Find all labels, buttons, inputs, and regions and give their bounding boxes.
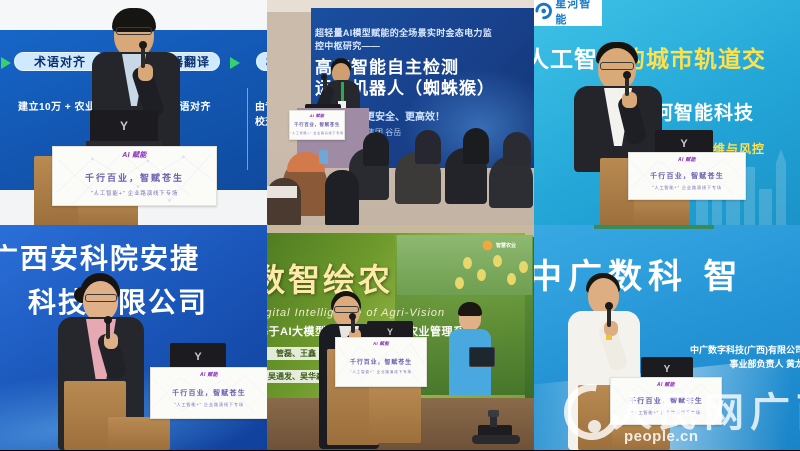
event-logo: AI 赋能 — [678, 156, 696, 163]
slide-brand-logo-text: 智慧农业 — [496, 242, 516, 249]
speaker-glasses — [600, 62, 634, 70]
green-arrow-icon — [1, 57, 11, 69]
speaker-glasses — [334, 306, 359, 313]
panel3-podium: AI 赋能 千行百业，智赋苍生 "人工智能+" 企业路演线下专场 — [594, 152, 754, 225]
laptop-logo-icon: Y — [664, 364, 671, 375]
laptop-logo-icon: Y — [680, 138, 687, 150]
slide-brand-logo: 智慧农业 — [482, 239, 526, 251]
slide-body-far: 由专家进行校对 — [255, 100, 267, 130]
slide-divider — [247, 88, 248, 170]
podium-subtitle: "人工智能+" 企业路演线下专场 — [629, 185, 745, 191]
event-logo: AI 赋能 — [373, 341, 389, 347]
event-logo: AI 赋能 — [310, 113, 325, 119]
slide-eyebrow: 超轻量AI模型赋能的全场景实时金态电力监控中枢研究—— — [315, 27, 495, 53]
audience-member — [463, 128, 489, 164]
panel6-top-banner — [594, 225, 714, 229]
podium-slogan: 千行百业，智赋苍生 — [611, 396, 721, 406]
microphone-head-icon — [321, 74, 327, 80]
galaxy-swirl-icon — [534, 1, 553, 21]
fruit-icon — [463, 257, 472, 269]
farmer-hair — [458, 302, 482, 316]
collage-panel-3[interactable]: 人工智能的城市轨道交 星河智能科技 智慧运维与风控 星河智能 Y — [534, 0, 800, 225]
panel6-podium: AI 赋能 千行百业，智赋苍生 "人工智能+" 企业路演线下专场 — [574, 377, 744, 450]
fruit-icon — [455, 277, 464, 289]
speaker-lanyard — [341, 82, 344, 102]
podium-slogan: 千行百业，智赋苍生 — [290, 122, 344, 128]
podium-sign: AI 赋能 千行百业，智赋苍生 "人工智能+" 企业路演线下专场 — [335, 337, 427, 387]
collage-panel-2[interactable]: 超轻量AI模型赋能的全场景实时金态电力监控中枢研究—— 高空智能自主检测 运维机… — [267, 0, 534, 225]
microphone-icon — [607, 307, 611, 327]
panel1-laptop: Y — [86, 110, 162, 148]
podium-sign: AI 赋能 千行百业，智赋苍生 "人工智能+" 企业路演线下专场 — [150, 367, 267, 419]
panel6-slide-credit: 中广数字科技(广西)有限公司 事业部负责人 黄龙 — [690, 343, 800, 371]
event-logo: AI 赋能 — [657, 381, 675, 388]
fruit-icon — [493, 255, 502, 267]
audience-member — [325, 170, 359, 225]
panel2-desk — [267, 186, 297, 198]
microphone-icon — [141, 46, 145, 68]
panel1-podium: AI 赋能 千行百业，智赋苍生 "人工智能+" 企业路演线下专场 — [26, 146, 241, 225]
podium-base — [612, 421, 670, 450]
collage-panel-4[interactable]: 广西安科院安捷 科技有限公司 Y — [0, 225, 267, 450]
laptop-logo-icon: Y — [194, 351, 201, 363]
event-logo: AI 赋能 — [122, 150, 146, 160]
audience-phone-icon — [319, 150, 328, 164]
robot-camera-icon — [488, 410, 499, 417]
podium-base — [108, 417, 170, 450]
audience-member — [363, 132, 389, 166]
audience-member — [415, 130, 441, 164]
microphone-head-icon — [605, 302, 613, 310]
collage-panel-6[interactable]: 中广数科 智 中广数字科技(广西)有限公司 事业部负责人 黄龙 Y — [534, 225, 800, 450]
leaf-icon — [482, 240, 493, 251]
podium-sign: AI 赋能 千行百业，智赋苍生 "人工智能+" 企业路演线下专场 — [628, 152, 746, 200]
fruit-icon — [519, 261, 528, 273]
brand-logo: 星河智能 — [534, 0, 602, 26]
fruit-icon — [507, 273, 516, 285]
speaker-glasses — [116, 27, 152, 35]
microphone-band — [606, 335, 612, 340]
speaker-glasses — [85, 294, 117, 302]
podium-sign: AI 赋能 千行百业，智赋苍生 "人工智能+" 企业路演线下专场 — [610, 377, 722, 425]
slide-headline-line1: 广西安科院安捷 — [0, 243, 200, 274]
credit-line1: 中广数字科技(广西)有限公司 — [690, 345, 800, 355]
fruit-icon — [477, 269, 486, 281]
panel2-podium-sign: AI 赋能 千行百业，智赋苍生 "人工智能+" 企业路演线下专场 — [289, 110, 345, 140]
microphone-head-icon — [104, 316, 112, 324]
photo-collage: 术语对齐 机器翻译 校对 建立10万 + 农业核心术语库进行术语对齐 由专家进行… — [0, 0, 800, 450]
podium-subtitle: "人工智能+" 企业路演线下专场 — [290, 131, 344, 135]
microphone-head-icon — [349, 313, 356, 320]
credit-line2: 事业部负责人 黄龙 — [729, 359, 800, 369]
collage-panel-5[interactable]: 智慧农业 数智绘农 Digital Intelligence of Agri-V… — [267, 225, 534, 450]
collage-panel-1[interactable]: 术语对齐 机器翻译 校对 建立10万 + 农业核心术语库进行术语对齐 由专家进行… — [0, 0, 267, 225]
microphone-icon — [625, 76, 629, 96]
podium-sign: AI 赋能 千行百业，智赋苍生 "人工智能+" 企业路演线下专场 — [52, 146, 217, 206]
panel4-podium: AI 赋能 千行百业，智赋苍生 "人工智能+" 企业路演线下专场 — [60, 367, 260, 450]
laptop-lid: Y — [170, 343, 226, 370]
audience-member — [503, 132, 531, 166]
microphone-head-icon — [623, 71, 631, 79]
podium-subtitle: "人工智能+" 企业路演线下专场 — [336, 370, 426, 375]
podium-subtitle: "人工智能+" 企业路演线下专场 — [151, 402, 267, 408]
microphone-head-icon — [139, 41, 147, 49]
podium-slogan: 千行百业，智赋苍生 — [151, 388, 267, 398]
podium-slogan: 千行百业，智赋苍生 — [629, 171, 745, 181]
speaker-head — [588, 278, 619, 314]
brand-logo-text: 星河智能 — [555, 0, 602, 27]
podium-subtitle: "人工智能+" 企业路演线下专场 — [611, 410, 721, 416]
event-logo: AI 赋能 — [200, 371, 218, 378]
laptop-logo-icon: Y — [387, 327, 393, 337]
laptop-logo-icon: Y — [120, 119, 128, 133]
podium-slogan: 千行百业，智赋苍生 — [336, 357, 426, 366]
podium-subtitle: "人工智能+" 企业路演线下专场 — [53, 189, 216, 197]
podium-base — [369, 385, 421, 443]
laptop-lid: Y — [90, 110, 158, 142]
panel5-podium: AI 赋能 千行百业，智赋苍生 "人工智能+" 企业路演线下专场 — [327, 337, 487, 445]
green-arrow-icon — [230, 57, 240, 69]
podium-slogan: 千行百业，智赋苍生 — [53, 171, 216, 184]
